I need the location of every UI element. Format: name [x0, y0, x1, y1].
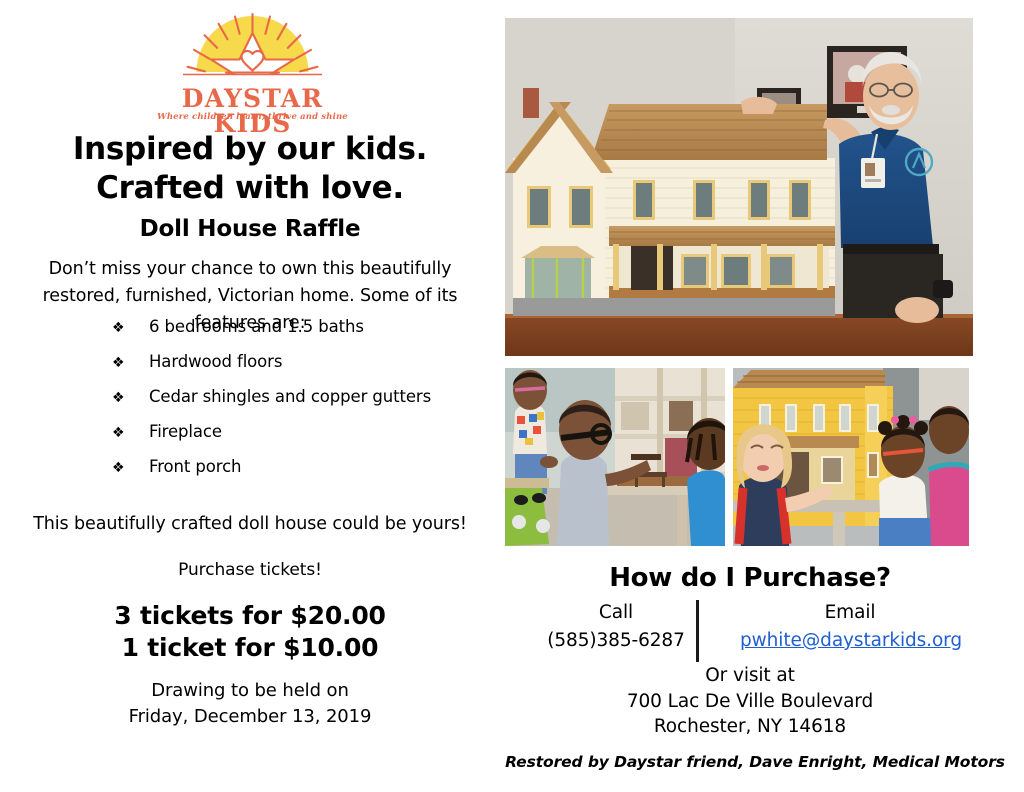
flyer-page: DAYSTAR KIDS Where children learn, thriv…	[0, 0, 1024, 792]
list-item: ❖ 6 bedrooms and 1.5 baths	[112, 317, 492, 352]
left-column: DAYSTAR KIDS Where children learn, thriv…	[0, 0, 500, 792]
logo-wordmark: DAYSTAR KIDS	[155, 86, 350, 136]
list-item: ❖ Front porch	[112, 457, 492, 492]
price-block: 3 tickets for $20.00 1 ticket for $10.00	[0, 600, 500, 664]
restoration-credit: Restored by Daystar friend, Dave Enright…	[500, 753, 1010, 771]
purchase-section-title: How do I Purchase?	[500, 563, 1000, 593]
headline-line-2: Crafted with love.	[0, 172, 500, 205]
list-item-label: Hardwood floors	[149, 352, 492, 371]
city-state-zip: Rochester, NY 14618	[500, 714, 1000, 740]
street-address: 700 Lac De Ville Boulevard	[500, 689, 1000, 715]
drawing-date: Friday, December 13, 2019	[0, 704, 500, 730]
right-column: How do I Purchase? Call (585)385-6287 Em…	[500, 0, 1024, 792]
contact-grid: Call (585)385-6287 Email pwhite@daystark…	[500, 600, 1000, 662]
visit-address-block: Or visit at 700 Lac De Ville Boulevard R…	[500, 663, 1000, 740]
children-playing-interior-photo	[505, 368, 725, 546]
list-item: ❖ Hardwood floors	[112, 352, 492, 387]
headline-line-1: Inspired by our kids.	[0, 133, 500, 166]
list-item-label: Cedar shingles and copper gutters	[149, 387, 492, 406]
purchase-prompt: Purchase tickets!	[0, 560, 500, 580]
contact-call-column: Call (585)385-6287	[506, 600, 726, 655]
closing-statement: This beautifully crafted doll house coul…	[0, 514, 500, 534]
children-around-dollhouse-photo	[733, 368, 969, 546]
feature-list: ❖ 6 bedrooms and 1.5 baths ❖ Hardwood fl…	[112, 317, 492, 492]
price-option-single: 1 ticket for $10.00	[0, 632, 500, 664]
list-item: ❖ Fireplace	[112, 422, 492, 457]
diamond-bullet-icon: ❖	[112, 426, 149, 440]
contact-email-column: Email pwhite@daystarkids.org	[740, 600, 960, 655]
phone-number[interactable]: (585)385-6287	[506, 627, 726, 655]
drawing-block: Drawing to be held on Friday, December 1…	[0, 678, 500, 729]
call-label: Call	[506, 600, 726, 627]
list-item-label: 6 bedrooms and 1.5 baths	[149, 317, 492, 336]
diamond-bullet-icon: ❖	[112, 356, 149, 370]
price-option-multi: 3 tickets for $20.00	[0, 600, 500, 632]
diamond-bullet-icon: ❖	[112, 461, 149, 475]
list-item-label: Front porch	[149, 457, 492, 476]
visit-prompt: Or visit at	[500, 663, 1000, 689]
diamond-bullet-icon: ❖	[112, 321, 149, 335]
list-item: ❖ Cedar shingles and copper gutters	[112, 387, 492, 422]
dollhouse-main-photo	[505, 18, 973, 356]
drawing-prompt: Drawing to be held on	[0, 678, 500, 704]
list-item-label: Fireplace	[149, 422, 492, 441]
logo-tagline: Where children learn, thrive and shine	[155, 113, 350, 122]
contact-divider	[696, 600, 699, 662]
daystar-kids-logo: DAYSTAR KIDS Where children learn, thriv…	[155, 12, 350, 124]
page-title: Doll House Raffle	[0, 216, 500, 242]
diamond-bullet-icon: ❖	[112, 391, 149, 405]
email-label: Email	[740, 600, 960, 627]
email-link[interactable]: pwhite@daystarkids.org	[740, 627, 960, 655]
